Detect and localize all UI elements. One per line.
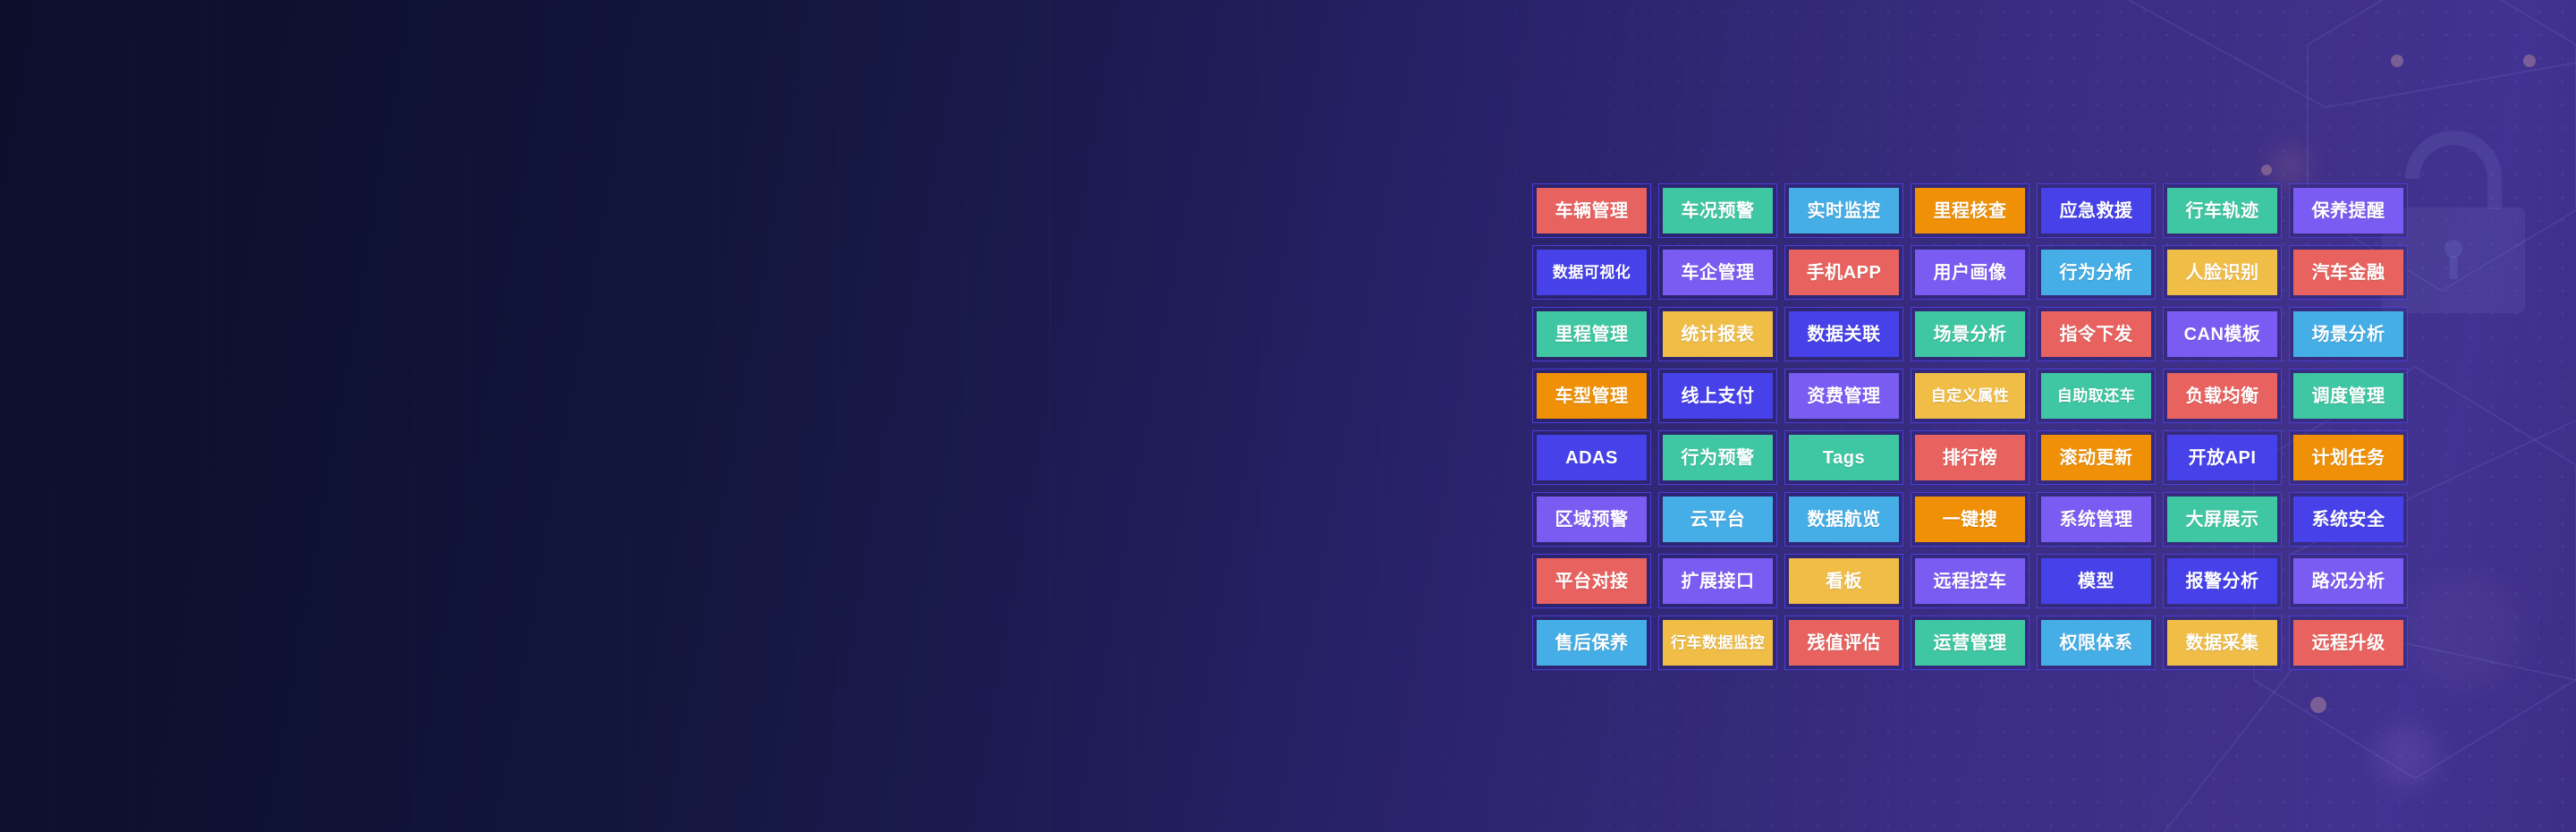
tag-label: 售后保养 xyxy=(1537,620,1647,666)
tag-label: 汽车金融 xyxy=(2293,250,2403,295)
tag-label: 行为预警 xyxy=(1663,435,1773,480)
tag-label: 行车轨迹 xyxy=(2167,188,2277,233)
tag-cell[interactable]: 行车轨迹 xyxy=(2163,183,2282,238)
tag-label: 运营管理 xyxy=(1915,620,2025,666)
tag-cell[interactable]: 行为分析 xyxy=(2037,245,2156,300)
tag-cell[interactable]: 扩展接口 xyxy=(1658,554,1777,608)
tag-cell[interactable]: 行为预警 xyxy=(1658,430,1777,485)
tag-cell[interactable]: CAN模板 xyxy=(2163,307,2282,361)
tag-label: Tags xyxy=(1789,435,1899,480)
tag-cell[interactable]: 远程升级 xyxy=(2289,616,2408,670)
tag-cell[interactable]: 里程管理 xyxy=(1532,307,1651,361)
tag-label: CAN模板 xyxy=(2167,311,2277,357)
tag-label: 手机APP xyxy=(1789,250,1899,295)
tag-label: 系统管理 xyxy=(2041,497,2151,542)
tag-label: 报警分析 xyxy=(2167,558,2277,604)
tag-label: 应急救援 xyxy=(2041,188,2151,233)
tag-label: 远程升级 xyxy=(2293,620,2403,666)
tag-cell[interactable]: 路况分析 xyxy=(2289,554,2408,608)
tag-cell[interactable]: 平台对接 xyxy=(1532,554,1651,608)
tag-label: 数据航览 xyxy=(1789,497,1899,542)
tag-cell[interactable]: 用户画像 xyxy=(1911,245,2029,300)
tag-cell[interactable]: 自助取还车 xyxy=(2037,369,2156,423)
tag-cell[interactable]: 运营管理 xyxy=(1911,616,2029,670)
tag-cell[interactable]: 看板 xyxy=(1784,554,1903,608)
tag-cell[interactable]: 负载均衡 xyxy=(2163,369,2282,423)
tag-label: 平台对接 xyxy=(1537,558,1647,604)
tag-label: 资费管理 xyxy=(1789,373,1899,419)
tag-grid: 车辆管理车况预警实时监控里程核查应急救援行车轨迹保养提醒数据可视化车企管理手机A… xyxy=(1532,183,2408,670)
tag-cell[interactable]: 计划任务 xyxy=(2289,430,2408,485)
tag-cell[interactable]: 数据关联 xyxy=(1784,307,1903,361)
tag-label: 一键搜 xyxy=(1915,497,2025,542)
tag-label: 云平台 xyxy=(1663,497,1773,542)
tag-cell[interactable]: 数据航览 xyxy=(1784,492,1903,547)
tag-cell[interactable]: 手机APP xyxy=(1784,245,1903,300)
tag-label: 数据可视化 xyxy=(1537,250,1647,295)
tag-label: ADAS xyxy=(1537,435,1647,480)
tag-label: 保养提醒 xyxy=(2293,188,2403,233)
tag-label: 排行榜 xyxy=(1915,435,2025,480)
tag-label: 大屏展示 xyxy=(2167,497,2277,542)
tag-label: 人脸识别 xyxy=(2167,250,2277,295)
tag-cell[interactable]: 区域预警 xyxy=(1532,492,1651,547)
tag-cell[interactable]: 滚动更新 xyxy=(2037,430,2156,485)
glow-orb-bottom xyxy=(2375,725,2437,787)
tag-cell[interactable]: 数据可视化 xyxy=(1532,245,1651,300)
tag-label: 数据关联 xyxy=(1789,311,1899,357)
tag-cell[interactable]: 资费管理 xyxy=(1784,369,1903,423)
tag-cell[interactable]: 车辆管理 xyxy=(1532,183,1651,238)
tag-label: 自助取还车 xyxy=(2041,373,2151,419)
tag-cell[interactable]: 自定义属性 xyxy=(1911,369,2029,423)
screen-canvas: 车辆管理车况预警实时监控里程核查应急救援行车轨迹保养提醒数据可视化车企管理手机A… xyxy=(0,0,2576,832)
tag-label: 线上支付 xyxy=(1663,373,1773,419)
tag-label: 指令下发 xyxy=(2041,311,2151,357)
tag-cell[interactable]: 汽车金融 xyxy=(2289,245,2408,300)
tag-cell[interactable]: 车型管理 xyxy=(1532,369,1651,423)
tag-label: 模型 xyxy=(2041,558,2151,604)
tag-label: 车企管理 xyxy=(1663,250,1773,295)
tag-label: 权限体系 xyxy=(2041,620,2151,666)
glow-orb-moon xyxy=(2406,573,2522,689)
tag-cell[interactable]: 残值评估 xyxy=(1784,616,1903,670)
tag-label: 调度管理 xyxy=(2293,373,2403,419)
tag-cell[interactable]: 模型 xyxy=(2037,554,2156,608)
tag-label: 开放API xyxy=(2167,435,2277,480)
tag-label: 计划任务 xyxy=(2293,435,2403,480)
tag-cell[interactable]: 一键搜 xyxy=(1911,492,2029,547)
tag-cell[interactable]: 报警分析 xyxy=(2163,554,2282,608)
tag-label: 系统安全 xyxy=(2293,497,2403,542)
tag-cell[interactable]: 实时监控 xyxy=(1784,183,1903,238)
tag-cell[interactable]: 场景分析 xyxy=(1911,307,2029,361)
tag-cell[interactable]: 云平台 xyxy=(1658,492,1777,547)
tag-cell[interactable]: 统计报表 xyxy=(1658,307,1777,361)
tag-label: 统计报表 xyxy=(1663,311,1773,357)
tag-label: 残值评估 xyxy=(1789,620,1899,666)
tag-label: 行为分析 xyxy=(2041,250,2151,295)
tag-cell[interactable]: 权限体系 xyxy=(2037,616,2156,670)
tag-label: 自定义属性 xyxy=(1915,373,2025,419)
tag-label: 里程管理 xyxy=(1537,311,1647,357)
tag-cell[interactable]: 系统安全 xyxy=(2289,492,2408,547)
tag-cell[interactable]: 场景分析 xyxy=(2289,307,2408,361)
tag-label: 实时监控 xyxy=(1789,188,1899,233)
tag-label: 远程控车 xyxy=(1915,558,2025,604)
tag-label: 行车数据监控 xyxy=(1663,620,1773,666)
tag-label: 扩展接口 xyxy=(1663,558,1773,604)
tag-cell[interactable]: 指令下发 xyxy=(2037,307,2156,361)
tag-cell[interactable]: Tags xyxy=(1784,430,1903,485)
tag-cell[interactable]: 线上支付 xyxy=(1658,369,1777,423)
tag-label: 负载均衡 xyxy=(2167,373,2277,419)
tag-label: 里程核查 xyxy=(1915,188,2025,233)
tag-cell[interactable]: 数据采集 xyxy=(2163,616,2282,670)
tag-label: 看板 xyxy=(1789,558,1899,604)
tag-cell[interactable]: 远程控车 xyxy=(1911,554,2029,608)
tag-cell[interactable]: 里程核查 xyxy=(1911,183,2029,238)
glow-orb-left xyxy=(2272,148,2308,183)
tag-label: 用户画像 xyxy=(1915,250,2025,295)
tag-cell[interactable]: 人脸识别 xyxy=(2163,245,2282,300)
tag-cell[interactable]: 售后保养 xyxy=(1532,616,1651,670)
tag-cell[interactable]: 大屏展示 xyxy=(2163,492,2282,547)
tag-cell[interactable]: 保养提醒 xyxy=(2289,183,2408,238)
tag-cell[interactable]: 排行榜 xyxy=(1911,430,2029,485)
tag-label: 数据采集 xyxy=(2167,620,2277,666)
tag-label: 滚动更新 xyxy=(2041,435,2151,480)
tag-cell[interactable]: 车况预警 xyxy=(1658,183,1777,238)
tag-cell[interactable]: 系统管理 xyxy=(2037,492,2156,547)
tag-cell[interactable]: 行车数据监控 xyxy=(1658,616,1777,670)
tag-cell[interactable]: ADAS xyxy=(1532,430,1651,485)
tag-label: 车型管理 xyxy=(1537,373,1647,419)
tag-label: 车况预警 xyxy=(1663,188,1773,233)
tag-label: 场景分析 xyxy=(1915,311,2025,357)
tag-cell[interactable]: 车企管理 xyxy=(1658,245,1777,300)
tag-cell[interactable]: 开放API xyxy=(2163,430,2282,485)
tag-cell[interactable]: 应急救援 xyxy=(2037,183,2156,238)
tag-label: 区域预警 xyxy=(1537,497,1647,542)
tag-cell[interactable]: 调度管理 xyxy=(2289,369,2408,423)
tag-label: 路况分析 xyxy=(2293,558,2403,604)
tag-label: 场景分析 xyxy=(2293,311,2403,357)
tag-label: 车辆管理 xyxy=(1537,188,1647,233)
